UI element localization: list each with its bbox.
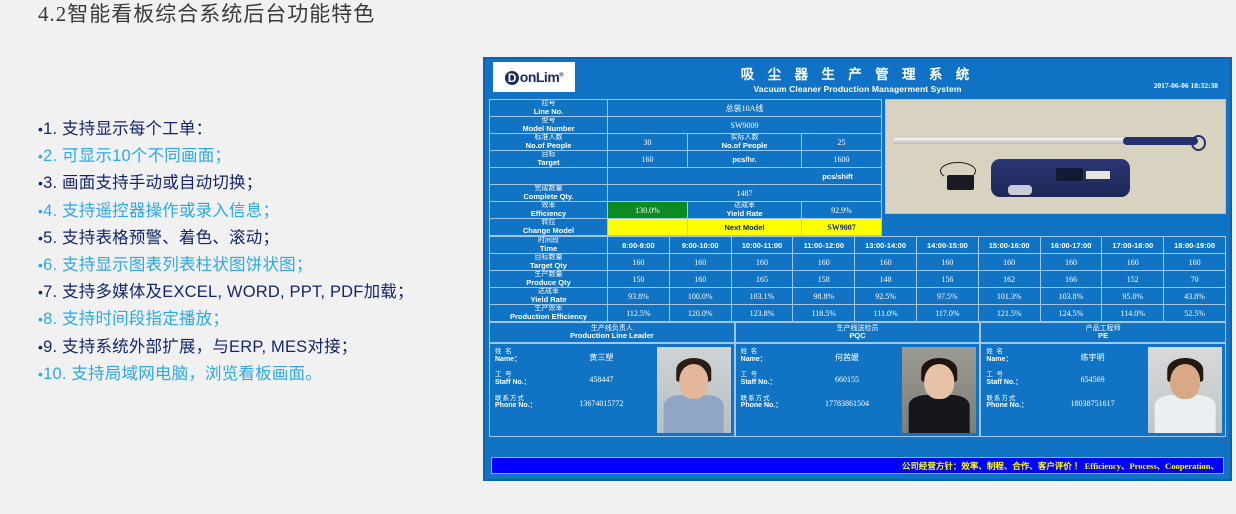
personnel-field-label: 姓 名Name： — [741, 349, 799, 363]
cell-time_slots-6: 15:00-16:00 — [978, 237, 1040, 254]
row-label-en: Target Qty — [490, 262, 607, 270]
personnel-field-phone_no: 联系方式Phone No.：18038751617 — [986, 396, 1141, 410]
personnel-field-value-staff_no: 660155 — [799, 372, 896, 384]
cell-yield_rate-9: 43.8% — [1164, 288, 1226, 305]
cell-target_qty-3: 160 — [793, 254, 855, 271]
personnel-fields: 姓 名Name：黄三塑工 号Staff No.：458447联系方式Phone … — [490, 344, 654, 436]
dashboard-upper-area: 拉号 Line No. 总装10A线 型号 Model Number SW900… — [485, 97, 1230, 236]
personnel-field-staff_no: 工 号Staff No.：660155 — [741, 372, 896, 386]
std-people-value: 30 — [608, 134, 688, 151]
feature-bullet-item: •7. 支持多媒体及EXCEL, WORD, PPT, PDF加载； — [38, 279, 468, 306]
personnel-field-label-cn: 姓 名 — [741, 349, 799, 356]
target-shift-unit-cell — [490, 168, 608, 185]
feature-bullet-text: 10. 支持局域网电脑，浏览看板画面。 — [43, 365, 322, 383]
personnel-field-label-en: Staff No.： — [495, 379, 553, 386]
row-label-en: Produce Qty — [490, 279, 607, 287]
cell-time_slots-5: 14:00-15:00 — [916, 237, 978, 254]
table-row: 达成率Yield Rate93.8%100.0%103.1%98.8%92.5%… — [490, 288, 1226, 305]
personnel-field-label-cn: 联系方式 — [986, 396, 1044, 403]
product-photo — [885, 99, 1226, 214]
cell-target_qty-1: 160 — [669, 254, 731, 271]
line-no-label-en: Line No. — [490, 108, 607, 116]
line-no-label: 拉号 Line No. — [490, 100, 608, 117]
personnel-field-label-cn: 工 号 — [986, 372, 1044, 379]
personnel-field-label-en: Name： — [741, 356, 799, 363]
actual-people-label-en: No.of People — [688, 142, 801, 150]
cell-produce_qty-6: 162 — [978, 271, 1040, 288]
cell-production_efficiency-2: 123.8% — [731, 305, 793, 322]
personnel-field-label-cn: 联系方式 — [495, 396, 553, 403]
personnel-card-0: 姓 名Name：黄三塑工 号Staff No.：458447联系方式Phone … — [489, 343, 735, 437]
personnel-field-phone_no: 联系方式Phone No.：13674015772 — [495, 396, 650, 410]
personnel-field-label-en: Phone No.： — [986, 402, 1044, 409]
registered-trademark-icon: ® — [559, 72, 563, 78]
personnel-field-label-en: Name： — [986, 356, 1044, 363]
feature-bullet-item: •1. 支持显示每个工单： — [38, 116, 468, 143]
table-row: 生产数量Produce Qty1501601651581481561621661… — [490, 271, 1226, 288]
order-info-table-wrap: 拉号 Line No. 总装10A线 型号 Model Number SW900… — [489, 99, 881, 236]
order-info-table-2: pcs/shift 完成数量 Complete Qty. 1487 效率 Eff… — [489, 168, 882, 236]
cell-time_slots-1: 9:00-10:00 — [669, 237, 731, 254]
personnel-header-0: 生产线负责人Production Line Leader — [489, 322, 735, 343]
feature-bullet-text: 3. 画面支持手动或自动切换； — [43, 174, 262, 192]
personnel-avatar — [1148, 347, 1222, 433]
cell-production_efficiency-9: 52.5% — [1164, 305, 1226, 322]
table-row: 时间段Time8:00-9:009:00-10:0010:00-11:0011:… — [490, 237, 1226, 254]
cell-production_efficiency-1: 120.0% — [669, 305, 731, 322]
personnel-field-label-en: Staff No.： — [741, 379, 799, 386]
table-row: 效率 Efficiency 130.0% 达成率 Yield Rate 92.9… — [490, 202, 882, 219]
personnel-field-label: 姓 名Name： — [986, 349, 1044, 363]
cell-target_qty-4: 160 — [855, 254, 917, 271]
row-label-produce_qty: 生产数量Produce Qty — [490, 271, 608, 288]
avatar-torso — [1155, 395, 1216, 434]
personnel-field-label-en: Name： — [495, 356, 553, 363]
personnel-field-label: 姓 名Name： — [495, 349, 553, 363]
table-row: pcs/shift — [490, 168, 882, 185]
feature-bullet-list: •1. 支持显示每个工单：•2. 可显示10个不同画面；•3. 画面支持手动或自… — [38, 116, 468, 388]
cell-target_qty-6: 160 — [978, 254, 1040, 271]
personnel-field-label: 联系方式Phone No.： — [741, 396, 799, 410]
personnel-field-label: 联系方式Phone No.： — [986, 396, 1044, 410]
row-label-yield_rate: 达成率Yield Rate — [490, 288, 608, 305]
table-row: 型号 Model Number SW9009 — [490, 117, 882, 134]
cell-produce_qty-2: 165 — [731, 271, 793, 288]
hourly-production-table: 时间段Time8:00-9:009:00-10:0010:00-11:0011:… — [489, 236, 1226, 322]
target-shift-unit: pcs/shift — [608, 168, 882, 185]
cell-time_slots-0: 8:00-9:00 — [608, 237, 670, 254]
personnel-field-label-cn: 联系方式 — [741, 396, 799, 403]
dashboard-title-en: Vacuum Cleaner Production Managerment Sy… — [485, 84, 1230, 94]
target-label: 目标 Target — [490, 151, 608, 168]
target-shift-value: 1600 — [802, 151, 882, 168]
efficiency-label-en: Efficiency — [490, 210, 607, 218]
target-label-en: Target — [490, 159, 607, 167]
next-model-label: Next Model — [688, 219, 802, 236]
scrolling-ticker: 公司经营方针：效率、制程、合作、客户评价 ！ Efficiency、Proces… — [491, 457, 1224, 474]
personnel-field-label: 工 号Staff No.： — [741, 372, 799, 386]
personnel-field-label-en: Phone No.： — [495, 402, 553, 409]
personnel-field-name: 姓 名Name：练宇明 — [986, 349, 1141, 363]
personnel-avatar — [657, 347, 731, 433]
product-pole-hook — [1191, 135, 1206, 151]
personnel-field-name: 姓 名Name：何茜媛 — [741, 349, 896, 363]
feature-bullet-text: 5. 支持表格预警、着色、滚动； — [43, 229, 279, 247]
cell-target_qty-7: 160 — [1040, 254, 1102, 271]
personnel-field-label-en: Phone No.： — [741, 402, 799, 409]
cell-produce_qty-4: 148 — [855, 271, 917, 288]
cell-yield_rate-0: 93.8% — [608, 288, 670, 305]
dashboard-timestamp: 2017-06-06 18:32:38 — [1154, 81, 1218, 90]
yield-rate-label: 达成率 Yield Rate — [688, 202, 802, 219]
row-label-en: Time — [490, 245, 607, 253]
table-row: 拉号 Line No. 总装10A线 — [490, 100, 882, 117]
personnel-row: 姓 名Name：黄三塑工 号Staff No.：458447联系方式Phone … — [485, 343, 1230, 437]
personnel-field-label: 工 号Staff No.： — [495, 372, 553, 386]
personnel-field-name: 姓 名Name：黄三塑 — [495, 349, 650, 363]
cell-time_slots-7: 16:00-17:00 — [1040, 237, 1102, 254]
cell-yield_rate-7: 103.8% — [1040, 288, 1102, 305]
std-people-label-en: No.of People — [490, 142, 607, 150]
cell-time_slots-9: 18:00-19:00 — [1164, 237, 1226, 254]
feature-bullet-item: •5. 支持表格预警、着色、滚动； — [38, 225, 468, 252]
feature-bullet-text: 4. 支持遥控器操作或录入信息； — [43, 202, 279, 220]
dashboard-header: DonLim® 吸 尘 器 生 产 管 理 系 统 Vacuum Cleaner… — [485, 59, 1230, 97]
target-hour-value: 160 — [608, 151, 688, 168]
cell-production_efficiency-5: 117.0% — [916, 305, 978, 322]
feature-bullet-item: •6. 支持显示图表列表柱状图饼状图； — [38, 252, 468, 279]
personnel-field-value-name: 练宇明 — [1044, 349, 1141, 363]
personnel-header-2: 产品工程师PE — [980, 322, 1226, 343]
feature-bullet-item: •9. 支持系统外部扩展，与ERP, MES对接； — [38, 334, 468, 361]
personnel-fields: 姓 名Name：何茜媛工 号Staff No.：660155联系方式Phone … — [736, 344, 900, 436]
change-model-label: 转拉 Change Model — [490, 219, 608, 236]
feature-bullet-text: 9. 支持系统外部扩展，与ERP, MES对接； — [43, 338, 357, 356]
feature-bullet-text: 2. 可显示10个不同画面； — [43, 147, 231, 165]
cell-production_efficiency-3: 118.5% — [793, 305, 855, 322]
yield-rate-value: 92.9% — [802, 202, 882, 219]
feature-bullet-text: 1. 支持显示每个工单： — [43, 120, 212, 138]
avatar-torso — [663, 395, 724, 434]
row-label-en: Production Efficiency — [490, 313, 607, 321]
cell-production_efficiency-8: 114.0% — [1102, 305, 1164, 322]
logo-text: DonLim® — [505, 69, 563, 85]
personnel-field-label: 联系方式Phone No.： — [495, 396, 553, 410]
cell-time_slots-2: 10:00-11:00 — [731, 237, 793, 254]
dashboard-title-block: 吸 尘 器 生 产 管 理 系 统 Vacuum Cleaner Product… — [485, 63, 1230, 94]
logo-d-letter: D — [505, 71, 519, 85]
cell-target_qty-8: 160 — [1102, 254, 1164, 271]
feature-bullet-item: •8. 支持时间段指定播放； — [38, 306, 468, 333]
personnel-field-label-cn: 工 号 — [741, 372, 799, 379]
personnel-header-row: 生产线负责人Production Line Leader生产线送检员PQC产品工… — [485, 322, 1230, 343]
cell-production_efficiency-0: 112.5% — [608, 305, 670, 322]
table-row: 目标 Target 160 pcs/hr. 1600 — [490, 151, 882, 168]
personnel-field-staff_no: 工 号Staff No.：458447 — [495, 372, 650, 386]
cell-production_efficiency-6: 121.5% — [978, 305, 1040, 322]
cell-production_efficiency-7: 124.5% — [1040, 305, 1102, 322]
cell-produce_qty-1: 160 — [669, 271, 731, 288]
cell-target_qty-0: 160 — [608, 254, 670, 271]
feature-bullet-item: •10. 支持局域网电脑，浏览看板画面。 — [38, 361, 468, 388]
personnel-field-label: 工 号Staff No.： — [986, 372, 1044, 386]
feature-bullet-text: 8. 支持时间段指定播放； — [43, 310, 229, 328]
cell-produce_qty-3: 158 — [793, 271, 855, 288]
cell-produce_qty-9: 70 — [1164, 271, 1226, 288]
personnel-card-2: 姓 名Name：练宇明工 号Staff No.：654569联系方式Phone … — [980, 343, 1226, 437]
product-pole-grip — [1123, 137, 1198, 145]
personnel-field-value-phone_no: 13674015772 — [553, 396, 650, 408]
personnel-avatar — [902, 347, 976, 433]
cell-produce_qty-5: 156 — [916, 271, 978, 288]
personnel-field-value-name: 何茜媛 — [799, 349, 896, 363]
personnel-field-staff_no: 工 号Staff No.：654569 — [986, 372, 1141, 386]
complete-qty-value: 1487 — [608, 185, 882, 202]
next-model-value: SW9007 — [802, 219, 882, 236]
feature-bullet-item: •4. 支持遥控器操作或录入信息； — [38, 198, 468, 225]
personnel-header-en: PQC — [736, 332, 980, 340]
logo-rest: onLim — [520, 69, 560, 85]
cell-produce_qty-8: 152 — [1102, 271, 1164, 288]
std-people-label: 标准人数 No.of People — [490, 134, 608, 151]
cell-target_qty-2: 160 — [731, 254, 793, 271]
personnel-field-label-cn: 姓 名 — [495, 349, 553, 356]
target-hour-unit: pcs/hr. — [688, 151, 802, 168]
cell-yield_rate-1: 100.0% — [669, 288, 731, 305]
cell-yield_rate-5: 97.5% — [916, 288, 978, 305]
feature-bullet-text: 6. 支持显示图表列表柱状图饼状图； — [43, 256, 312, 274]
cell-time_slots-8: 17:00-18:00 — [1102, 237, 1164, 254]
row-label-time_slots: 时间段Time — [490, 237, 608, 254]
avatar-face — [925, 364, 955, 398]
row-label-production_efficiency: 生产效率Production Efficiency — [490, 305, 608, 322]
feature-bullet-item: •3. 画面支持手动或自动切换； — [38, 170, 468, 197]
product-pole — [893, 138, 1144, 144]
product-head-label — [1086, 171, 1110, 179]
row-label-en: Yield Rate — [490, 296, 607, 304]
cell-target_qty-5: 160 — [916, 254, 978, 271]
model-number-value: SW9009 — [608, 117, 882, 134]
row-label-target_qty: 目标数量Target Qty — [490, 254, 608, 271]
avatar-torso — [909, 395, 970, 434]
product-adapter — [947, 175, 974, 191]
personnel-card-1: 姓 名Name：何茜媛工 号Staff No.：660155联系方式Phone … — [735, 343, 981, 437]
personnel-field-label-cn: 工 号 — [495, 372, 553, 379]
table-row: 目标数量Target Qty16016016016016016016016016… — [490, 254, 1226, 271]
cell-yield_rate-3: 98.8% — [793, 288, 855, 305]
cell-target_qty-9: 160 — [1164, 254, 1226, 271]
line-no-value: 总装10A线 — [608, 100, 882, 117]
cell-production_efficiency-4: 111.0% — [855, 305, 917, 322]
feature-bullet-text: 7. 支持多媒体及EXCEL, WORD, PPT, PDF加载； — [43, 283, 414, 301]
cell-produce_qty-0: 150 — [608, 271, 670, 288]
dashboard-title-cn: 吸 尘 器 生 产 管 理 系 统 — [485, 63, 1230, 83]
production-dashboard-panel: DonLim® 吸 尘 器 生 产 管 理 系 统 Vacuum Cleaner… — [483, 57, 1232, 481]
cell-yield_rate-4: 92.5% — [855, 288, 917, 305]
cell-produce_qty-7: 166 — [1040, 271, 1102, 288]
model-number-label: 型号 Model Number — [490, 117, 608, 134]
personnel-field-value-staff_no: 458447 — [553, 372, 650, 384]
avatar-face — [679, 364, 709, 398]
change-model-label-en: Change Model — [490, 227, 607, 235]
personnel-fields: 姓 名Name：练宇明工 号Staff No.：654569联系方式Phone … — [981, 344, 1145, 436]
cell-yield_rate-8: 95.0% — [1102, 288, 1164, 305]
personnel-field-value-name: 黄三塑 — [553, 349, 650, 363]
personnel-field-label-cn: 姓 名 — [986, 349, 1044, 356]
personnel-header-en: Production Line Leader — [490, 332, 734, 340]
yield-rate-label-en: Yield Rate — [688, 210, 801, 218]
personnel-field-value-phone_no: 18038751617 — [1044, 396, 1141, 408]
table-row: 转拉 Change Model Next Model SW9007 — [490, 219, 882, 236]
personnel-field-value-staff_no: 654569 — [1044, 372, 1141, 384]
table-row: 生产效率Production Efficiency112.5%120.0%123… — [490, 305, 1226, 322]
complete-qty-label: 完成数量 Complete Qty. — [490, 185, 608, 202]
donlim-logo: DonLim® — [493, 62, 575, 92]
personnel-header-en: PE — [981, 332, 1225, 340]
cell-time_slots-3: 11:00-12:00 — [793, 237, 855, 254]
personnel-header-1: 生产线送检员PQC — [735, 322, 981, 343]
personnel-field-phone_no: 联系方式Phone No.：17783861504 — [741, 396, 896, 410]
cell-time_slots-4: 13:00-14:00 — [855, 237, 917, 254]
complete-qty-label-en: Complete Qty. — [490, 193, 607, 201]
table-row: 标准人数 No.of People 30 实际人数 No.of People 2… — [490, 134, 882, 151]
avatar-face — [1170, 364, 1200, 398]
actual-people-label: 实际人数 No.of People — [688, 134, 802, 151]
feature-bullet-item: •2. 可显示10个不同画面； — [38, 143, 468, 170]
change-model-spacer — [608, 219, 688, 236]
efficiency-label: 效率 Efficiency — [490, 202, 608, 219]
product-head-clip — [1056, 168, 1083, 182]
model-number-label-en: Model Number — [490, 125, 607, 133]
efficiency-value: 130.0% — [608, 202, 688, 219]
order-info-table: 拉号 Line No. 总装10A线 型号 Model Number SW900… — [489, 99, 882, 168]
page-title: 4.2智能看板综合系统后台功能特色 — [38, 0, 375, 28]
cell-yield_rate-6: 101.3% — [978, 288, 1040, 305]
product-head-button — [1008, 185, 1032, 195]
actual-people-value: 25 — [802, 134, 882, 151]
personnel-field-value-phone_no: 17783861504 — [799, 396, 896, 408]
personnel-field-label-en: Staff No.： — [986, 379, 1044, 386]
table-row: 完成数量 Complete Qty. 1487 — [490, 185, 882, 202]
cell-yield_rate-2: 103.1% — [731, 288, 793, 305]
time-slot-table-wrap: 时间段Time8:00-9:009:00-10:0010:00-11:0011:… — [485, 236, 1230, 322]
